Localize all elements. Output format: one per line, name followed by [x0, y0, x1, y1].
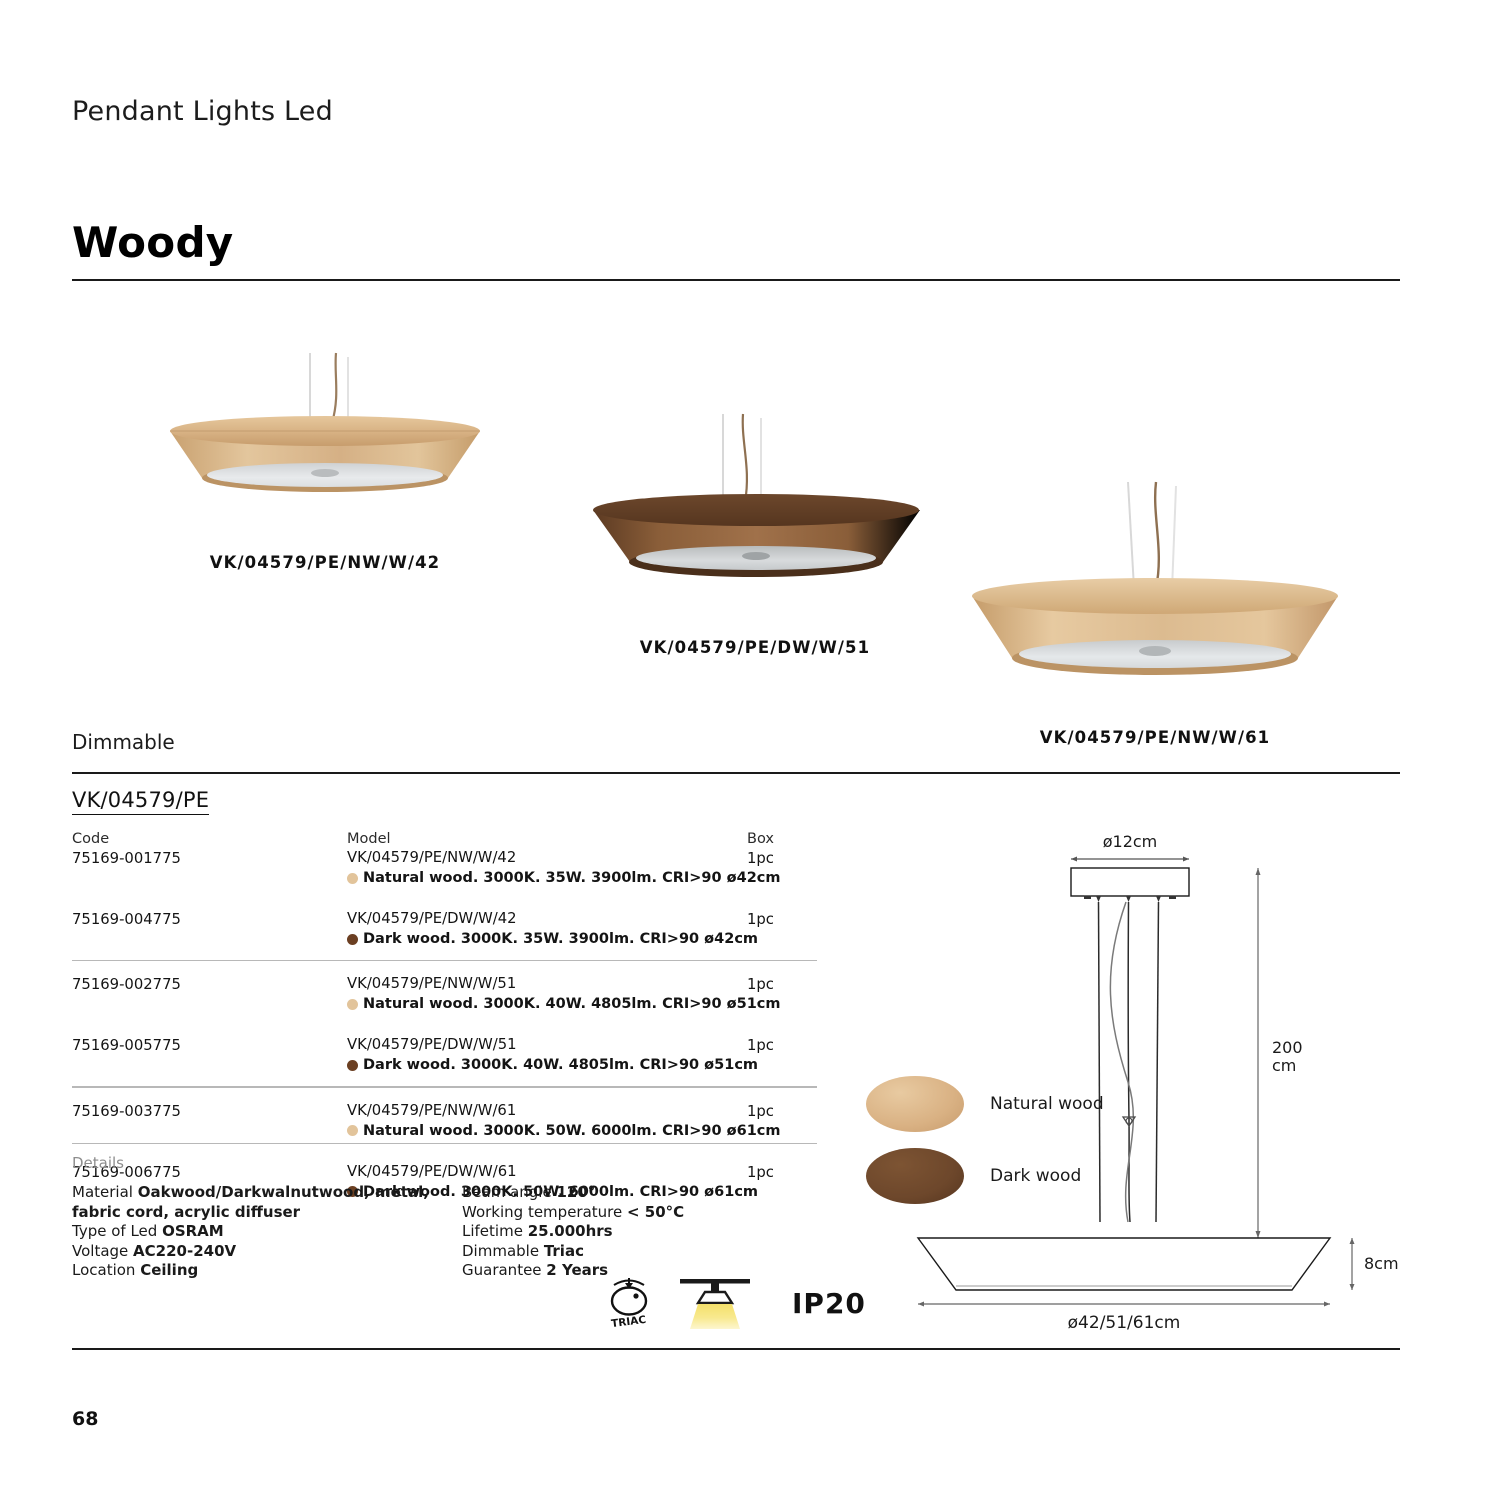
row-spec-text: Dark wood. 3000K. 35W. 3900lm. CRI>90 ø4…: [363, 931, 758, 947]
shade-height-label: 8cm: [1364, 1254, 1399, 1273]
finish-dot-icon: [347, 934, 358, 945]
details-line: Material Oakwood/Darkwalnutwood, metal,: [72, 1183, 462, 1203]
ip-rating-label: IP20: [792, 1287, 866, 1320]
triac-dimmer-icon: TRIAC: [600, 1272, 658, 1334]
row-box: 1pc: [747, 1036, 817, 1073]
row-box: 1pc: [747, 849, 817, 886]
dimmable-label: Dimmable: [72, 730, 175, 754]
row-spec-text: Dark wood. 3000K. 40W. 4805lm. CRI>90 ø5…: [363, 1057, 758, 1073]
page-number: 68: [72, 1408, 98, 1430]
product-shot-3: VK/04579/PE/NW/W/61: [960, 480, 1350, 750]
finish-dot-icon: [347, 1060, 358, 1071]
dark-wood-swatch: [866, 1148, 964, 1204]
natural-wood-swatch: [866, 1076, 964, 1132]
details-line: fabric cord, acrylic diffuser: [72, 1203, 462, 1223]
row-model: VK/04579/PE/DW/W/61: [347, 1163, 747, 1180]
details-column-left: Material Oakwood/Darkwalnutwood, metal, …: [72, 1183, 462, 1281]
row-spacer: [72, 886, 817, 908]
table-row: 75169-002775 VK/04579/PE/NW/W/51 Natural…: [72, 973, 817, 1012]
badge-row: TRIAC IP20: [600, 1272, 866, 1334]
row-spec-line: Natural wood. 3000K. 40W. 4805lm. CRI>90…: [347, 996, 747, 1012]
spec-table: VK/04579/PE Code Model Box 75169-001775 …: [72, 788, 817, 1200]
finish-dot-icon: [347, 873, 358, 884]
details-line: Voltage AC220-240V: [72, 1242, 462, 1262]
row-spec-line: Natural wood. 3000K. 35W. 3900lm. CRI>90…: [347, 870, 747, 886]
row-model: VK/04579/PE/NW/W/61: [347, 1102, 747, 1119]
details-line: Working temperature < 50°C: [462, 1203, 802, 1223]
table-row: 75169-004775 VK/04579/PE/DW/W/42 Dark wo…: [72, 908, 817, 947]
row-spec-text: Natural wood. 3000K. 40W. 4805lm. CRI>90…: [363, 996, 781, 1012]
table-header-model: Model: [347, 831, 747, 847]
row-divider: [72, 1086, 817, 1087]
row-model: VK/04579/PE/NW/W/42: [347, 849, 747, 866]
product-photo-gallery: VK/04579/PE/NW/W/42: [0, 300, 1500, 720]
details-line: Beam angle 120°: [462, 1183, 802, 1203]
pendant-lamp-illustration: [160, 345, 490, 545]
row-code: 75169-001775: [72, 849, 347, 886]
table-header-row: Code Model Box: [72, 831, 817, 847]
product-shot-2: VK/04579/PE/DW/W/51: [575, 410, 935, 660]
row-model: VK/04579/PE/DW/W/51: [347, 1036, 747, 1053]
series-code: VK/04579/PE: [72, 788, 209, 815]
row-spec-line: Dark wood. 3000K. 35W. 3900lm. CRI>90 ø4…: [347, 931, 747, 947]
dimmable-divider: [72, 772, 1400, 774]
table-header-code: Code: [72, 831, 347, 847]
category-kicker: Pendant Lights Led: [72, 96, 333, 127]
row-spec-text: Natural wood. 3000K. 35W. 3900lm. CRI>90…: [363, 870, 781, 886]
ceiling-light-icon: [676, 1272, 754, 1334]
row-box: 1pc: [747, 975, 817, 1012]
row-model: VK/04579/PE/NW/W/51: [347, 975, 747, 992]
details-line: Lifetime 25.000hrs: [462, 1222, 802, 1242]
table-row: 75169-003775 VK/04579/PE/NW/W/61 Natural…: [72, 1100, 817, 1139]
row-divider: [72, 960, 817, 961]
details-divider: [72, 1143, 817, 1144]
product-shot-caption: VK/04579/PE/DW/W/51: [640, 638, 870, 657]
row-spec-line: Dark wood. 3000K. 40W. 4805lm. CRI>90 ø5…: [347, 1057, 747, 1073]
details-line: Dimmable Triac: [462, 1242, 802, 1262]
drop-length-label-line2: cm: [1272, 1056, 1296, 1075]
canopy-diameter-label: ø12cm: [1103, 832, 1158, 851]
table-header-box: Box: [747, 831, 817, 847]
pendant-lamp-illustration: [575, 410, 935, 625]
details-column-right: Beam angle 120° Working temperature < 50…: [462, 1183, 802, 1281]
details-label: Details: [72, 1154, 124, 1172]
finish-dot-icon: [347, 1125, 358, 1136]
row-code: 75169-003775: [72, 1102, 347, 1139]
header-divider: [72, 279, 1400, 281]
table-row: 75169-005775 VK/04579/PE/DW/W/51 Dark wo…: [72, 1034, 817, 1073]
finish-dot-icon: [347, 999, 358, 1010]
details-line: Location Ceiling: [72, 1261, 462, 1281]
row-code: 75169-002775: [72, 975, 347, 1012]
finish-label: Natural wood: [990, 1094, 1104, 1114]
shade-diameter-label: ø42/51/61cm: [1068, 1313, 1181, 1333]
row-box: 1pc: [747, 910, 817, 947]
row-spec-line: Natural wood. 3000K. 50W. 6000lm. CRI>90…: [347, 1123, 747, 1139]
row-code: 75169-005775: [72, 1036, 347, 1073]
details-block: Material Oakwood/Darkwalnutwood, metal, …: [72, 1183, 817, 1281]
finish-legend: Natural wood Dark wood: [866, 1068, 1104, 1212]
details-line: Type of Led OSRAM: [72, 1222, 462, 1242]
product-shot-caption: VK/04579/PE/NW/W/61: [1040, 728, 1271, 747]
row-box: 1pc: [747, 1102, 817, 1139]
page-title: Woody: [72, 218, 233, 267]
footer-divider: [72, 1348, 1400, 1350]
finish-legend-item: Dark wood: [866, 1140, 1104, 1212]
row-spacer: [72, 1012, 817, 1034]
finish-legend-item: Natural wood: [866, 1068, 1104, 1140]
pendant-lamp-illustration: [960, 480, 1350, 710]
row-spec-text: Natural wood. 3000K. 50W. 6000lm. CRI>90…: [363, 1123, 781, 1139]
drop-length-label-line1: 200: [1272, 1038, 1303, 1057]
table-row: 75169-001775 VK/04579/PE/NW/W/42 Natural…: [72, 847, 817, 886]
triac-icon-label: TRIAC: [611, 1314, 647, 1330]
catalog-page: Pendant Lights Led Woody: [0, 0, 1500, 1500]
product-shot-caption: VK/04579/PE/NW/W/42: [210, 553, 441, 572]
finish-label: Dark wood: [990, 1166, 1081, 1186]
product-shot-1: VK/04579/PE/NW/W/42: [160, 345, 490, 575]
row-code: 75169-004775: [72, 910, 347, 947]
row-model: VK/04579/PE/DW/W/42: [347, 910, 747, 927]
